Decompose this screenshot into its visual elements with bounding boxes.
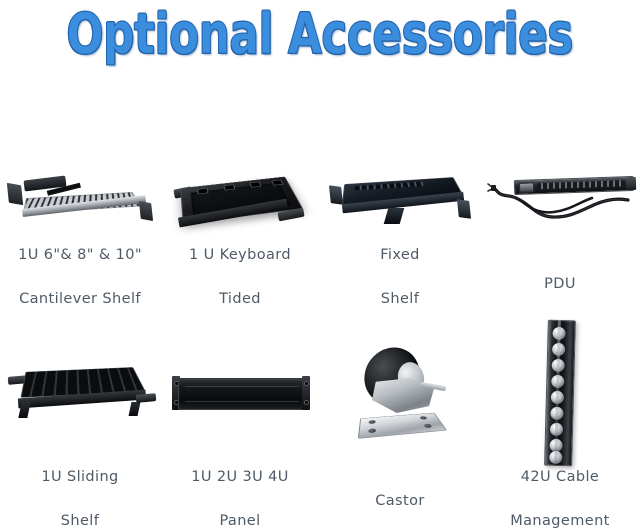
shelf-brace <box>23 175 66 191</box>
caption-line-1: 42U Cable <box>521 469 599 485</box>
castor-bolt-hole <box>368 428 376 433</box>
fixed-shelf-image <box>320 150 480 216</box>
product-cell-keyboard-tray[interactable]: 1 U Keyboard Tided <box>160 150 320 310</box>
castor-bolt-hole <box>369 420 376 424</box>
panel-screw-hole <box>304 381 309 386</box>
fixed-shelf-support-foot <box>384 208 405 224</box>
pdu-image <box>480 150 640 245</box>
tray-cutout <box>271 180 283 186</box>
product-cell-sliding-shelf[interactable]: 1U Sliding Shelf <box>0 318 160 532</box>
pdu-outlet-sockets <box>537 180 625 189</box>
caption-line-1: 1U Sliding <box>41 469 118 485</box>
product-cell-blank-panel[interactable]: 1U 2U 3U 4U Panel <box>160 318 320 532</box>
caption-line-2: Panel <box>219 513 260 529</box>
panel-body <box>178 378 306 410</box>
page-title: Optional Accessories <box>67 7 574 63</box>
caption-line-2: Management <box>510 513 610 529</box>
fixed-shelf-ear-right <box>457 199 471 219</box>
pdu-power-switch <box>519 182 534 193</box>
product-cell-castor[interactable]: Castor <box>320 318 480 532</box>
caption-blank-panel: 1U 2U 3U 4U Panel <box>160 444 320 532</box>
caption-line-1: PDU <box>544 276 576 292</box>
caption-line-1: 1U 2U 3U 4U <box>191 469 289 485</box>
panel-screw-hole <box>304 400 309 405</box>
caption-line-2: Shelf <box>61 513 99 529</box>
caption-line-2: Shelf <box>381 291 419 307</box>
cantilever-shelf-image <box>0 150 160 216</box>
castor-image <box>320 318 480 466</box>
shelf-brace-slot <box>47 183 81 196</box>
sliding-shelf-image <box>0 318 160 442</box>
cable-management-image <box>480 318 640 442</box>
pdu-end-cap <box>626 177 636 190</box>
product-row-2: 1U Sliding Shelf 1U 2U 3 <box>0 318 640 532</box>
caption-line-2: Cantilever Shelf <box>19 291 141 307</box>
product-row-1: 1U 6"& 8" & 10" Cantilever Shelf 1 U Key… <box>0 150 640 310</box>
pdu-plug-icon <box>486 182 498 194</box>
caption-fixed-shelf: Fixed Shelf <box>320 222 480 310</box>
caption-pdu: PDU <box>480 251 640 295</box>
sliding-shelf-leg-right <box>129 402 141 416</box>
caption-line-1: 1 U Keyboard <box>189 247 291 263</box>
caption-line-1: Fixed <box>380 247 420 263</box>
shelf-mounting-ear-left <box>7 183 23 205</box>
castor-mounting-plate <box>358 413 447 439</box>
castor-bolt-hole <box>419 416 427 420</box>
product-cell-cable-management[interactable]: 42U Cable Management <box>480 318 640 532</box>
caption-line-1: Castor <box>375 493 424 509</box>
castor-bolt-hole <box>423 424 432 428</box>
fixed-shelf-vent-slots <box>355 182 424 191</box>
caption-sliding-shelf: 1U Sliding Shelf <box>0 444 160 532</box>
product-cell-fixed-shelf[interactable]: Fixed Shelf <box>320 150 480 310</box>
shelf-mounting-ear-right <box>139 201 153 221</box>
panel-ear-right <box>302 376 310 410</box>
caption-line-2: Tided <box>219 291 261 307</box>
sliding-shelf-leg-left <box>18 402 30 418</box>
panel-groove <box>185 386 299 387</box>
panel-groove <box>185 401 299 402</box>
keyboard-tray-image <box>160 150 320 216</box>
blank-panel-image <box>160 318 320 442</box>
sliding-shelf-rail-right <box>136 393 157 403</box>
caption-cantilever-shelf: 1U 6"& 8" & 10" Cantilever Shelf <box>0 222 160 310</box>
caption-line-1: 1U 6"& 8" & 10" <box>18 247 142 263</box>
product-cell-pdu[interactable]: PDU <box>480 150 640 310</box>
page-title-banner: Optional Accessories <box>0 0 640 70</box>
caption-castor: Castor <box>320 468 480 512</box>
fixed-shelf-ear-left <box>329 185 343 205</box>
product-cell-cantilever-shelf[interactable]: 1U 6"& 8" & 10" Cantilever Shelf <box>0 150 160 310</box>
